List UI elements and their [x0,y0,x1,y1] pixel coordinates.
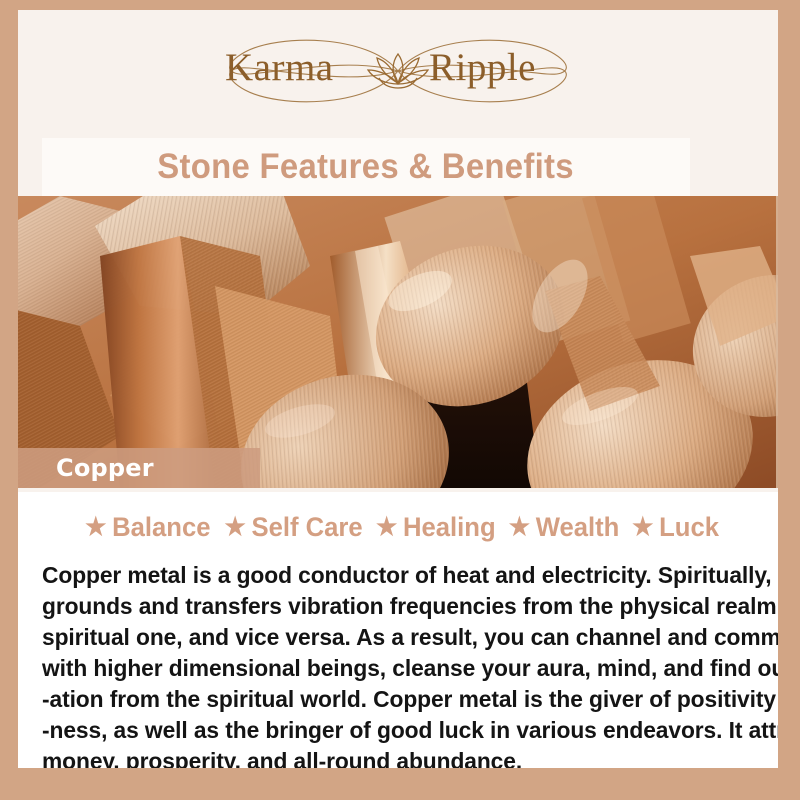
benefits-row: ★ Balance ★ Self Care ★ Healing ★ Wealth… [18,512,778,543]
benefit-label: Luck [659,512,719,543]
poster-card: Karma Ripple Stone Features & Benefits [18,10,778,768]
section-title-banner: Stone Features & Benefits [42,138,690,196]
description-line: -ness, as well as the bringer of good lu… [42,715,758,746]
benefit-luck: ★ Luck [625,512,719,543]
page-title: Stone Features & Benefits [158,147,575,187]
stone-name: Copper [56,454,154,482]
star-icon: ★ [509,515,530,540]
star-icon: ★ [632,515,653,540]
benefit-balance: ★ Balance [78,512,210,543]
star-icon: ★ [85,515,106,540]
benefit-label: Balance [112,512,210,543]
brand-logo-wrap: Karma Ripple [183,28,613,114]
description-line: money, prosperity, and all-round abundan… [42,746,758,768]
brand-word-karma: Karma [225,48,334,87]
hero-photo: Copper [18,196,778,488]
star-icon: ★ [376,515,397,540]
description-line: spiritual one, and vice versa. As a resu… [42,622,758,653]
description-panel: ★ Balance ★ Self Care ★ Healing ★ Wealth… [18,492,778,768]
benefit-label: Healing [403,512,496,543]
benefit-healing: ★ Healing [370,512,496,543]
benefit-label: Self Care [251,512,362,543]
photo-caption-band: Copper [18,448,260,488]
copper-bars-image [18,196,778,488]
brand-logo: Karma Ripple [18,10,778,130]
brand-word-ripple: Ripple [429,48,536,87]
poster-root: Karma Ripple Stone Features & Benefits [0,0,800,800]
description-text: Copper metal is a good conductor of heat… [42,560,758,768]
description-line: Copper metal is a good conductor of heat… [42,560,758,591]
description-line: grounds and transfers vibration frequenc… [42,591,758,622]
benefit-wealth: ★ Wealth [502,512,619,543]
star-icon: ★ [224,515,245,540]
description-line: with higher dimensional beings, cleanse … [42,653,758,684]
benefit-label: Wealth [536,512,620,543]
description-line: -ation from the spiritual world. Copper … [42,684,758,715]
benefit-self-care: ★ Self Care [218,512,363,543]
